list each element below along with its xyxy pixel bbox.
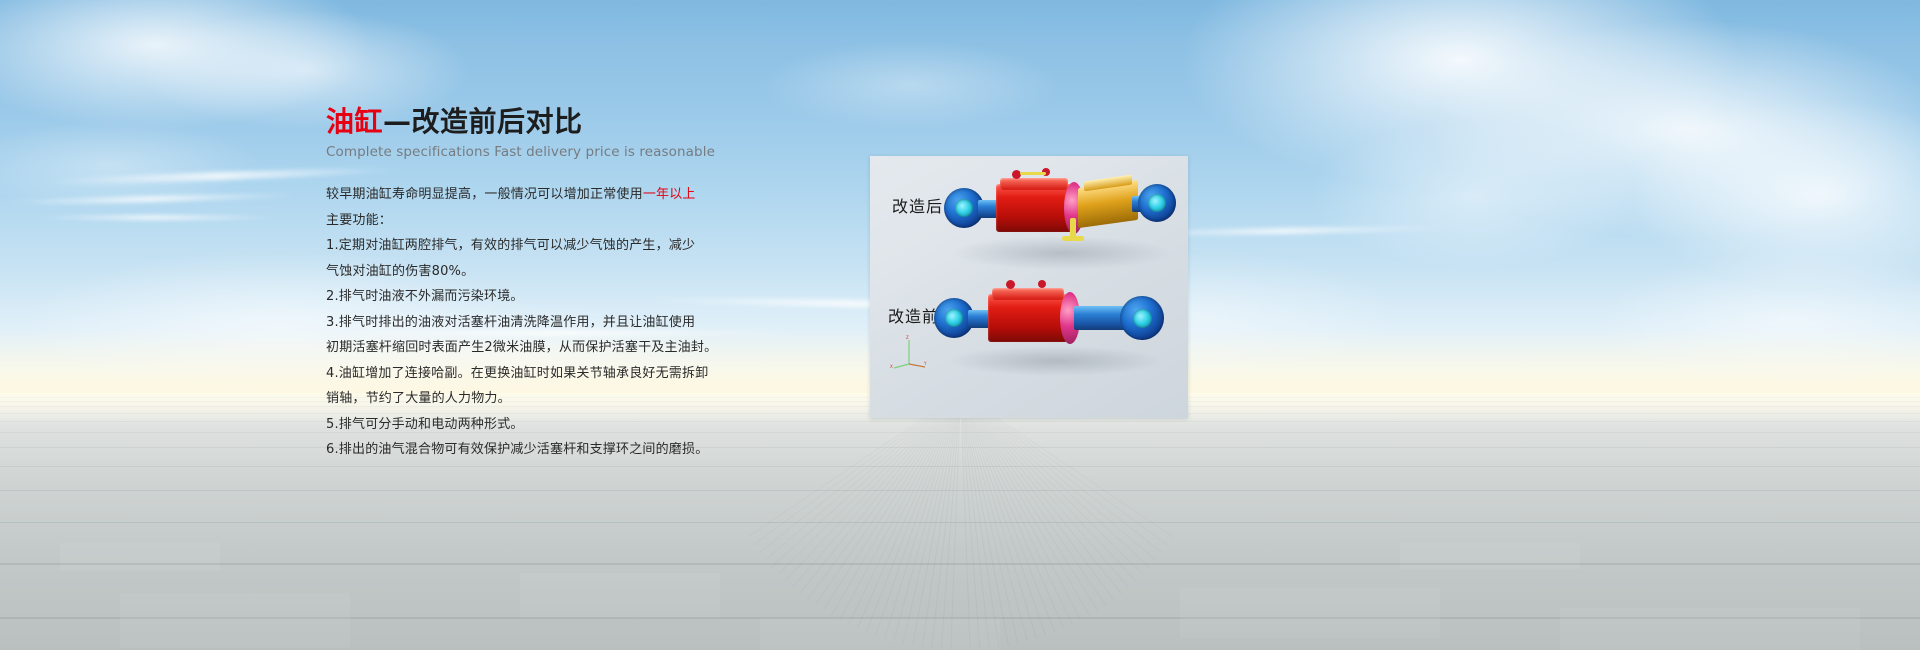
- cloud-shape: [1180, 0, 1740, 190]
- ground-line-horizontal: [0, 490, 1920, 491]
- ground-line-vanishing: [831, 393, 961, 616]
- svg-text:X: X: [890, 364, 893, 369]
- cloud-streak: [30, 215, 280, 220]
- ground-tile-highlight: [760, 618, 1000, 650]
- ground-line-horizontal: [0, 522, 1920, 523]
- coordinate-axis-icon: Z X Y: [890, 334, 928, 370]
- feature-line-text: 气蚀对油缸的伤害80%。: [326, 264, 474, 279]
- feature-line-text: 主要功能：: [326, 213, 392, 228]
- cylinder-barrel-top: [1000, 178, 1068, 190]
- page-title: 油缸—改造前后对比: [326, 104, 756, 140]
- cloud-shape: [1310, 120, 1640, 270]
- feature-line-text: 1.定期对油缸两腔排气，有效的排气可以减少气蚀的产生，减少: [326, 238, 695, 253]
- feature-line-text: 销轴，节约了大量的人力物力。: [326, 391, 511, 406]
- cylinder-barrel: [988, 294, 1068, 342]
- banner-text-block: 油缸—改造前后对比 Complete specifications Fast d…: [326, 104, 756, 463]
- cylinder-render-after: [942, 162, 1178, 274]
- cylinder-port-nub: [1006, 280, 1015, 289]
- cylinder-eye-bore: [1148, 194, 1166, 212]
- vent-tube: [1020, 172, 1046, 175]
- feature-line: 6.排出的油气混合物可有效保护减少活塞杆和支撑环之间的磨损。: [326, 437, 756, 463]
- cloud-shape: [1430, 20, 1920, 240]
- feature-line: 主要功能：: [326, 208, 756, 234]
- feature-line: 1.定期对油缸两腔排气，有效的排气可以减少气蚀的产生，减少: [326, 233, 756, 259]
- feature-line: 销轴，节约了大量的人力物力。: [326, 386, 756, 412]
- feature-list: 较早期油缸寿命明显提高，一般情况可以增加正常使用一年以上主要功能：1.定期对油缸…: [326, 182, 756, 463]
- feature-line: 初期活塞杆缩回时表面产生2微米油膜，从而保护活塞干及主油封。: [326, 335, 756, 361]
- cylinder-eye-bore: [945, 309, 963, 327]
- feature-line: 5.排气可分手动和电动两种形式。: [326, 412, 756, 438]
- feature-line: 3.排气时排出的油液对活塞杆油清洗降温作用，并且让油缸使用: [326, 310, 756, 336]
- cylinder-eye-right: [1120, 296, 1164, 340]
- ground-line-horizontal: [0, 432, 1920, 433]
- cylinder-barrel: [996, 184, 1072, 232]
- feature-line-text: 初期活塞杆缩回时表面产生2微米油膜，从而保护活塞干及主油封。: [326, 340, 717, 355]
- cylinder-port-nub: [1038, 280, 1046, 288]
- feature-line-text: 4.油缸增加了连接哈副。在更换油缸时如果关节轴承良好无需拆卸: [326, 366, 708, 381]
- feature-line-text: 3.排气时排出的油液对活塞杆油清洗降温作用，并且让油缸使用: [326, 315, 695, 330]
- ground-line-horizontal: [0, 563, 1920, 565]
- ground-line-horizontal: [0, 421, 1920, 422]
- label-after-modification: 改造后: [892, 193, 943, 217]
- render-shadow: [948, 346, 1163, 376]
- cylinder-eye-right: [1138, 184, 1176, 222]
- cylinder-barrel-top: [992, 288, 1064, 300]
- ground-tile-highlight: [60, 543, 220, 571]
- feature-line-text: 6.排出的油气混合物可有效保护减少活塞杆和支撑环之间的磨损。: [326, 442, 708, 457]
- plaza-ground: [0, 393, 1920, 650]
- cloud-shape: [760, 40, 1060, 130]
- ground-line-vanishing: [848, 393, 961, 625]
- cloud-shape: [1630, 100, 1920, 290]
- title-highlight: 油缸: [326, 105, 383, 138]
- ground-tile-highlight: [520, 573, 720, 618]
- cloud-shape: [0, 0, 370, 130]
- svg-text:Z: Z: [906, 335, 909, 340]
- product-comparison-panel: 改造后 改造前 Z X Y: [870, 156, 1188, 418]
- feature-line-text: 5.排气可分手动和电动两种形式。: [326, 417, 524, 432]
- ground-tile-highlight: [120, 593, 350, 648]
- ground-line-horizontal: [0, 447, 1920, 448]
- cloud-streak: [0, 192, 300, 206]
- feature-line-highlight: 一年以上: [643, 187, 696, 202]
- page-subtitle: Complete specifications Fast delivery pr…: [326, 144, 756, 160]
- label-before-modification: 改造前: [888, 303, 939, 327]
- render-shadow: [952, 236, 1172, 270]
- ground-tile-highlight: [1400, 543, 1580, 569]
- feature-line-text: 较早期油缸寿命明显提高，一般情况可以增加正常使用: [326, 187, 643, 202]
- hero-banner: 油缸—改造前后对比 Complete specifications Fast d…: [0, 0, 1920, 650]
- vent-valve: [1062, 236, 1084, 241]
- feature-line-text: 2.排气时油液不外漏而污染环境。: [326, 289, 524, 304]
- ground-tile-highlight: [1560, 608, 1860, 650]
- svg-text:Y: Y: [923, 361, 927, 366]
- ground-tile-highlight: [1180, 588, 1440, 638]
- feature-line: 2.排气时油液不外漏而污染环境。: [326, 284, 756, 310]
- feature-line: 4.油缸增加了连接哈副。在更换油缸时如果关节轴承良好无需拆卸: [326, 361, 756, 387]
- cylinder-render-before: [934, 268, 1170, 380]
- title-rest: —改造前后对比: [383, 105, 583, 138]
- feature-line: 气蚀对油缸的伤害80%。: [326, 259, 756, 285]
- ground-line-vanishing: [960, 393, 1090, 616]
- ground-line-horizontal: [0, 466, 1920, 467]
- cylinder-eye-bore: [955, 199, 973, 217]
- feature-line: 较早期油缸寿命明显提高，一般情况可以增加正常使用一年以上: [326, 182, 756, 208]
- cylinder-eye-bore: [1133, 309, 1152, 328]
